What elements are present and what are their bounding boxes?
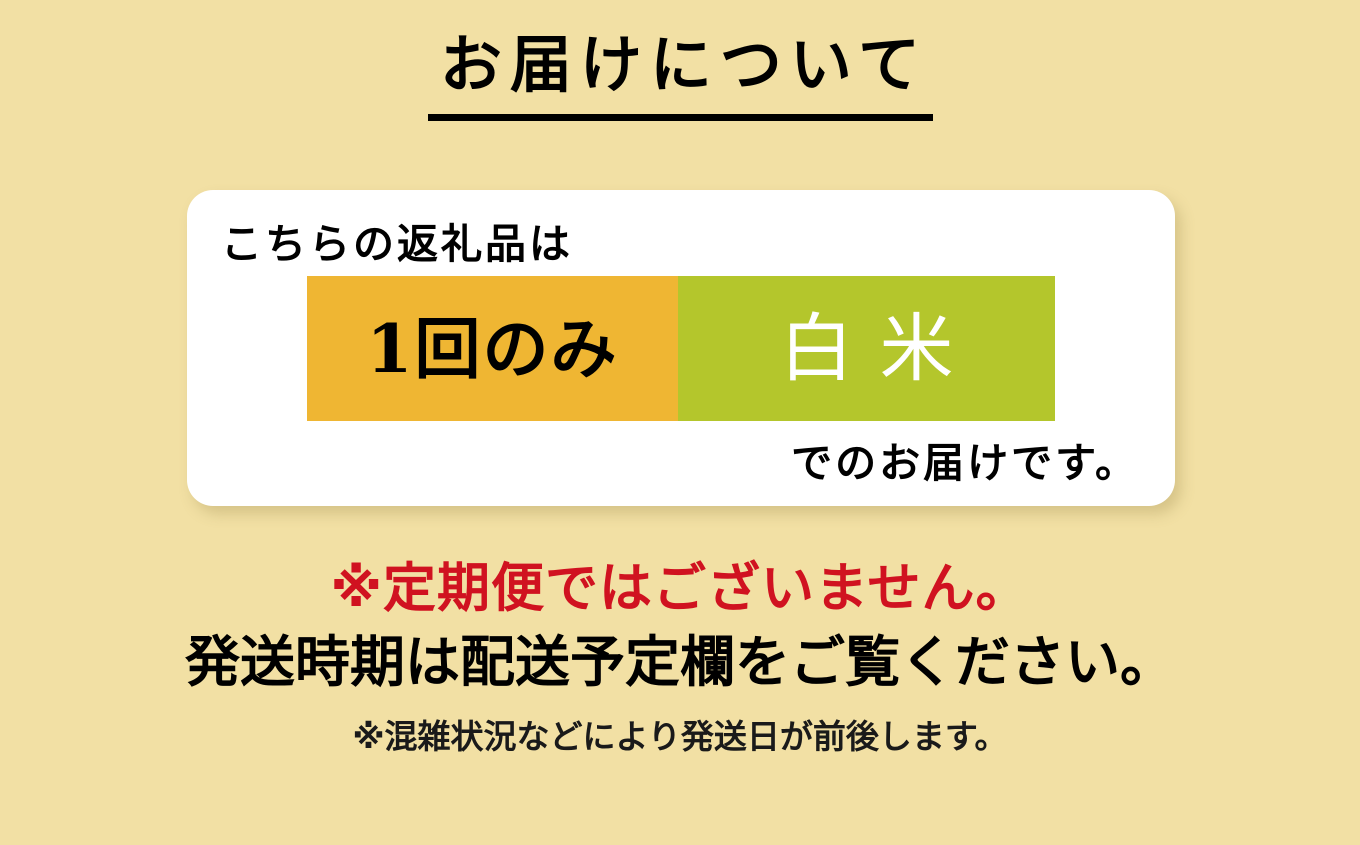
notice-shipping-schedule: 発送時期は配送予定欄をご覧ください。 <box>0 633 1360 692</box>
heading-section: お届けについて <box>0 28 1360 121</box>
badge-delivery-frequency-label: 1回のみ <box>367 316 619 382</box>
promo-banner: お届けについて こちらの返礼品は 1回のみ 白米 でのお届けです。 ※定期便では… <box>0 0 1360 845</box>
delivery-info-card: こちらの返礼品は 1回のみ 白米 でのお届けです。 <box>187 190 1175 506</box>
badge-rice-variety: 白米 <box>678 276 1055 421</box>
card-trailing-text: でのお届けです。 <box>791 429 1139 489</box>
badge-strip: 1回のみ 白米 <box>307 276 1055 421</box>
page-title: お届けについて <box>432 28 928 102</box>
badge-delivery-frequency: 1回のみ <box>307 276 678 421</box>
title-underline-rule <box>428 114 933 121</box>
notice-section: ※定期便ではございません。 発送時期は配送予定欄をご覧ください。 ※混雑状況など… <box>0 560 1360 755</box>
badge-rice-variety-label: 白米 <box>754 312 980 386</box>
card-lead-text: こちらの返礼品は <box>221 210 573 270</box>
notice-congestion-footnote: ※混雑状況などにより発送日が前後します。 <box>0 719 1360 755</box>
notice-not-subscription: ※定期便ではございません。 <box>0 560 1360 617</box>
